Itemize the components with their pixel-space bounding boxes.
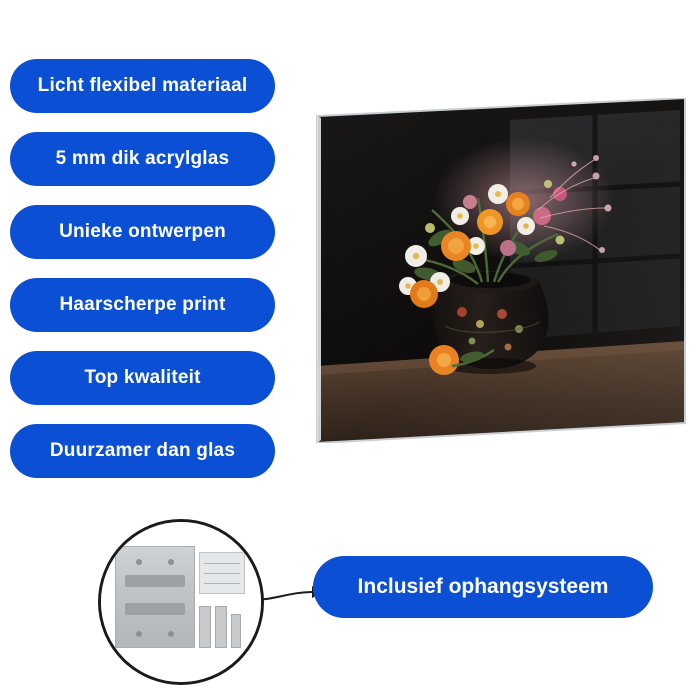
bag-line <box>204 573 240 574</box>
feature-pill-label: 5 mm dik acrylglas <box>56 148 230 170</box>
feature-pill-label: Licht flexibel materiaal <box>38 75 248 97</box>
feature-pill-label: Unieke ontwerpen <box>59 221 226 243</box>
plate-hole-icon <box>136 631 142 637</box>
feature-pill-label: Top kwaliteit <box>84 367 200 389</box>
feature-pill-5: Top kwaliteit <box>10 351 275 405</box>
feature-pill-label: Haarscherpe print <box>59 294 225 316</box>
feature-pill-6: Duurzamer dan glas <box>10 424 275 478</box>
acrylic-print-artwork <box>312 98 690 443</box>
bag-line <box>204 583 240 584</box>
plate-hole-icon <box>168 631 174 637</box>
feature-pill-2: 5 mm dik acrylglas <box>10 132 275 186</box>
wall-plug-icon <box>231 614 241 648</box>
feature-pill-4: Haarscherpe print <box>10 278 275 332</box>
mounting-plate-icon <box>115 546 195 648</box>
hanging-system-callout-label: Inclusief ophangsysteem <box>358 575 609 599</box>
parts-bag-icon <box>199 552 245 594</box>
screw-icon <box>215 606 227 648</box>
plate-hole-icon <box>136 559 142 565</box>
hanging-system-parts <box>101 522 261 682</box>
product-feature-graphic: Licht flexibel materiaal 5 mm dik acrylg… <box>0 0 700 700</box>
plate-hole-icon <box>168 559 174 565</box>
hanging-system-magnifier <box>98 519 264 685</box>
feature-pill-3: Unieke ontwerpen <box>10 205 275 259</box>
hanging-system-callout-pill: Inclusief ophangsysteem <box>313 556 653 618</box>
feature-pill-label: Duurzamer dan glas <box>50 440 235 462</box>
feature-pill-1: Licht flexibel materiaal <box>10 59 275 113</box>
bag-line <box>204 563 240 564</box>
screw-icon <box>199 606 211 648</box>
